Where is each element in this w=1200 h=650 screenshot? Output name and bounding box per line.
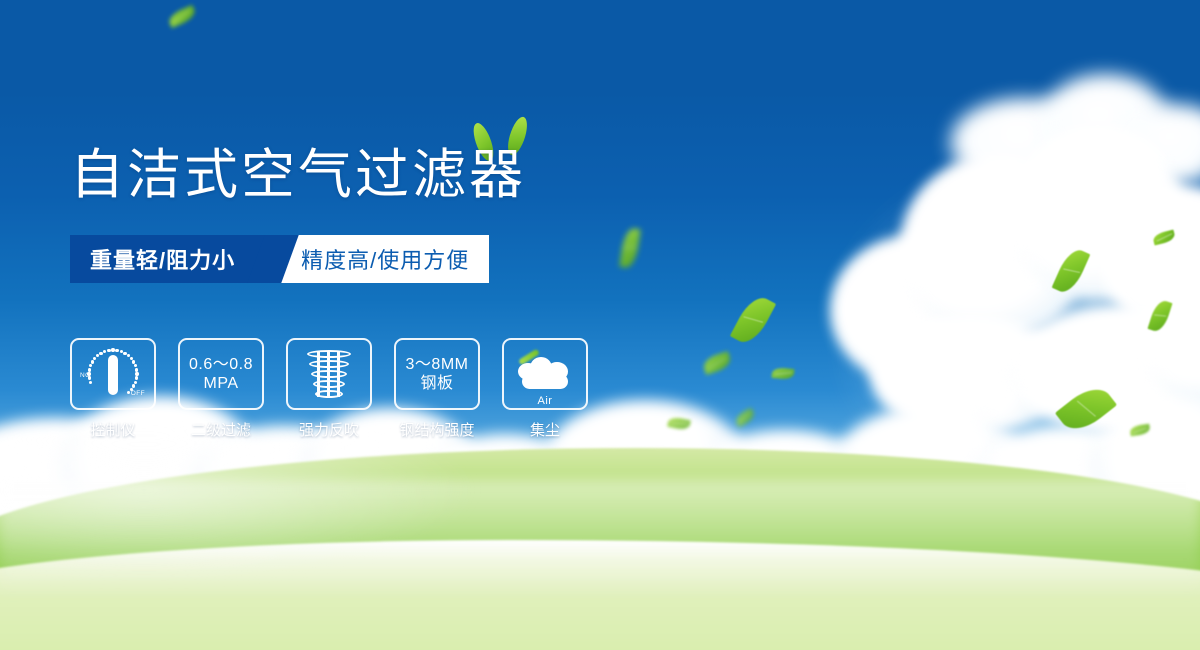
steel-icon-text: 3～8MM钢板 <box>406 355 469 393</box>
feature-icon-box: NO OFF <box>70 338 156 410</box>
gauge-needle <box>108 355 118 395</box>
coil-icon <box>304 348 354 400</box>
page-title: 自洁式空气过滤器 <box>70 143 526 207</box>
cloud-air-icon: Air <box>516 355 574 393</box>
gauge-tick <box>103 350 106 353</box>
feature-icon-box: 3～8MM钢板 <box>394 338 480 410</box>
gauge-tick <box>88 376 91 379</box>
leaf-icon <box>730 292 776 348</box>
feature-list: NO OFF 控制仪 0.6～0.8MPA 二级过滤 <box>70 338 588 440</box>
feature-item-dust: Air 集尘 <box>502 338 588 440</box>
subtitle-left: 重量轻/阻力小 <box>70 235 273 283</box>
subtitle-bar: 重量轻/阻力小 精度高/使用方便 <box>70 235 489 283</box>
grass-field <box>0 420 1200 650</box>
gauge-tick <box>127 391 130 394</box>
feature-label: 二级过滤 <box>191 419 251 440</box>
feature-label: 集尘 <box>530 419 560 440</box>
feature-item-backblow: 强力反吹 <box>286 338 372 440</box>
leaf-icon <box>619 227 640 269</box>
gauge-tick <box>93 357 96 360</box>
gauge-tick <box>132 384 135 387</box>
leaf-icon <box>701 351 733 375</box>
feature-icon-box: 0.6～0.8MPA <box>178 338 264 410</box>
gauge-tick <box>87 372 90 375</box>
feature-label: 钢结构强度 <box>399 419 474 440</box>
pressure-icon-text: 0.6～0.8MPA <box>189 355 253 393</box>
product-banner: 自洁式空气过滤器 重量轻/阻力小 精度高/使用方便 NO OFF 控制仪 0.6… <box>0 0 1200 650</box>
feature-item-steel: 3～8MM钢板 钢结构强度 <box>394 338 480 440</box>
gauge-tick <box>107 349 110 352</box>
gauge-tick <box>134 364 137 367</box>
air-label: Air <box>516 395 574 407</box>
grass-glow <box>0 430 480 580</box>
feature-item-controller: NO OFF 控制仪 <box>70 338 156 440</box>
gauge-tick <box>89 364 92 367</box>
gauge-tick <box>91 360 94 363</box>
feature-icon-box <box>286 338 372 410</box>
gauge-tick <box>89 381 92 384</box>
gauge-tick <box>135 376 138 379</box>
leaf-icon <box>771 367 794 380</box>
gauge-tick <box>115 349 118 352</box>
cloud-base <box>522 374 568 389</box>
gauge-tick <box>135 372 138 375</box>
gauge-tick <box>111 348 114 351</box>
leaf-icon <box>167 5 198 28</box>
feature-item-pressure: 0.6～0.8MPA 二级过滤 <box>178 338 264 440</box>
gauge-tick <box>135 368 138 371</box>
gauge-tick <box>88 368 91 371</box>
gauge-off-label: OFF <box>131 390 145 397</box>
gauge-icon: NO OFF <box>83 348 143 400</box>
feature-label: 控制仪 <box>90 419 135 440</box>
feature-icon-box: Air <box>502 338 588 410</box>
feature-label: 强力反吹 <box>299 419 359 440</box>
